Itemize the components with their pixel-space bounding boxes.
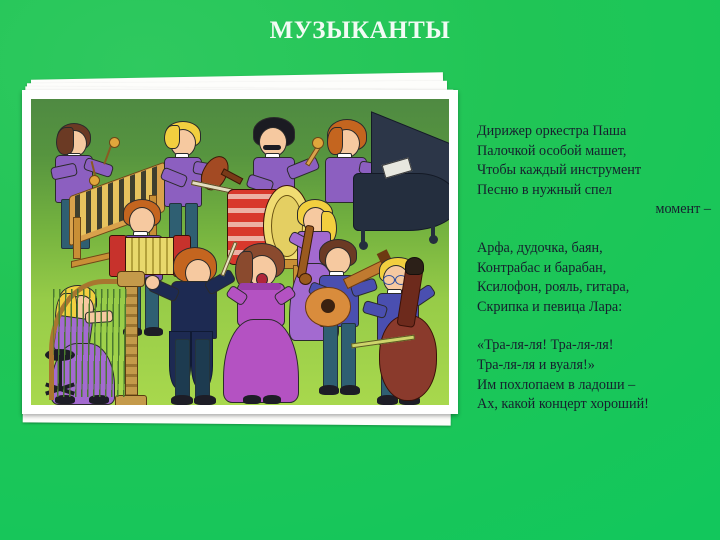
poem-line: «Тра-ля-ля! Тра-ля-ля!	[477, 336, 715, 356]
poem-line: Палочкой особой машет,	[477, 142, 715, 162]
page-title: МУЗЫКАНТЫ	[0, 18, 720, 43]
poem-text: Дирижер оркестра ПашаПалочкой особой маш…	[477, 122, 715, 415]
photo-stack[interactable]	[22, 76, 460, 426]
poem-stanza: Арфа, дудочка, баян,Контрабас и барабан,…	[477, 239, 715, 317]
poem-line: Ксилофон, рояль, гитара,	[477, 278, 715, 298]
poem-stanza: «Тра-ля-ля! Тра-ля-ля!Тра-ля-ля и вуаля!…	[477, 336, 715, 414]
poem-line: Арфа, дудочка, баян,	[477, 239, 715, 259]
poem-line: Дирижер оркестра Паша	[477, 122, 715, 142]
poem-line: Им похлопаем в ладоши –	[477, 376, 715, 396]
poem-line: Контрабас и барабан,	[477, 259, 715, 279]
poem-line: Тра-ля-ля и вуаля!»	[477, 356, 715, 376]
poem-line: Скрипка и певица Лара:	[477, 298, 715, 318]
poem-line: момент –	[477, 200, 715, 220]
photo-frame[interactable]	[22, 90, 458, 414]
poem-line: Чтобы каждый инструмент	[477, 161, 715, 181]
children-orchestra-illustration	[31, 99, 449, 405]
slide-canvas: МУЗЫКАНТЫ	[0, 0, 720, 540]
poem-line: Песню в нужный спел	[477, 181, 715, 201]
poem-stanza: Дирижер оркестра ПашаПалочкой особой маш…	[477, 122, 715, 220]
poem-line: Ах, какой концерт хороший!	[477, 395, 715, 415]
